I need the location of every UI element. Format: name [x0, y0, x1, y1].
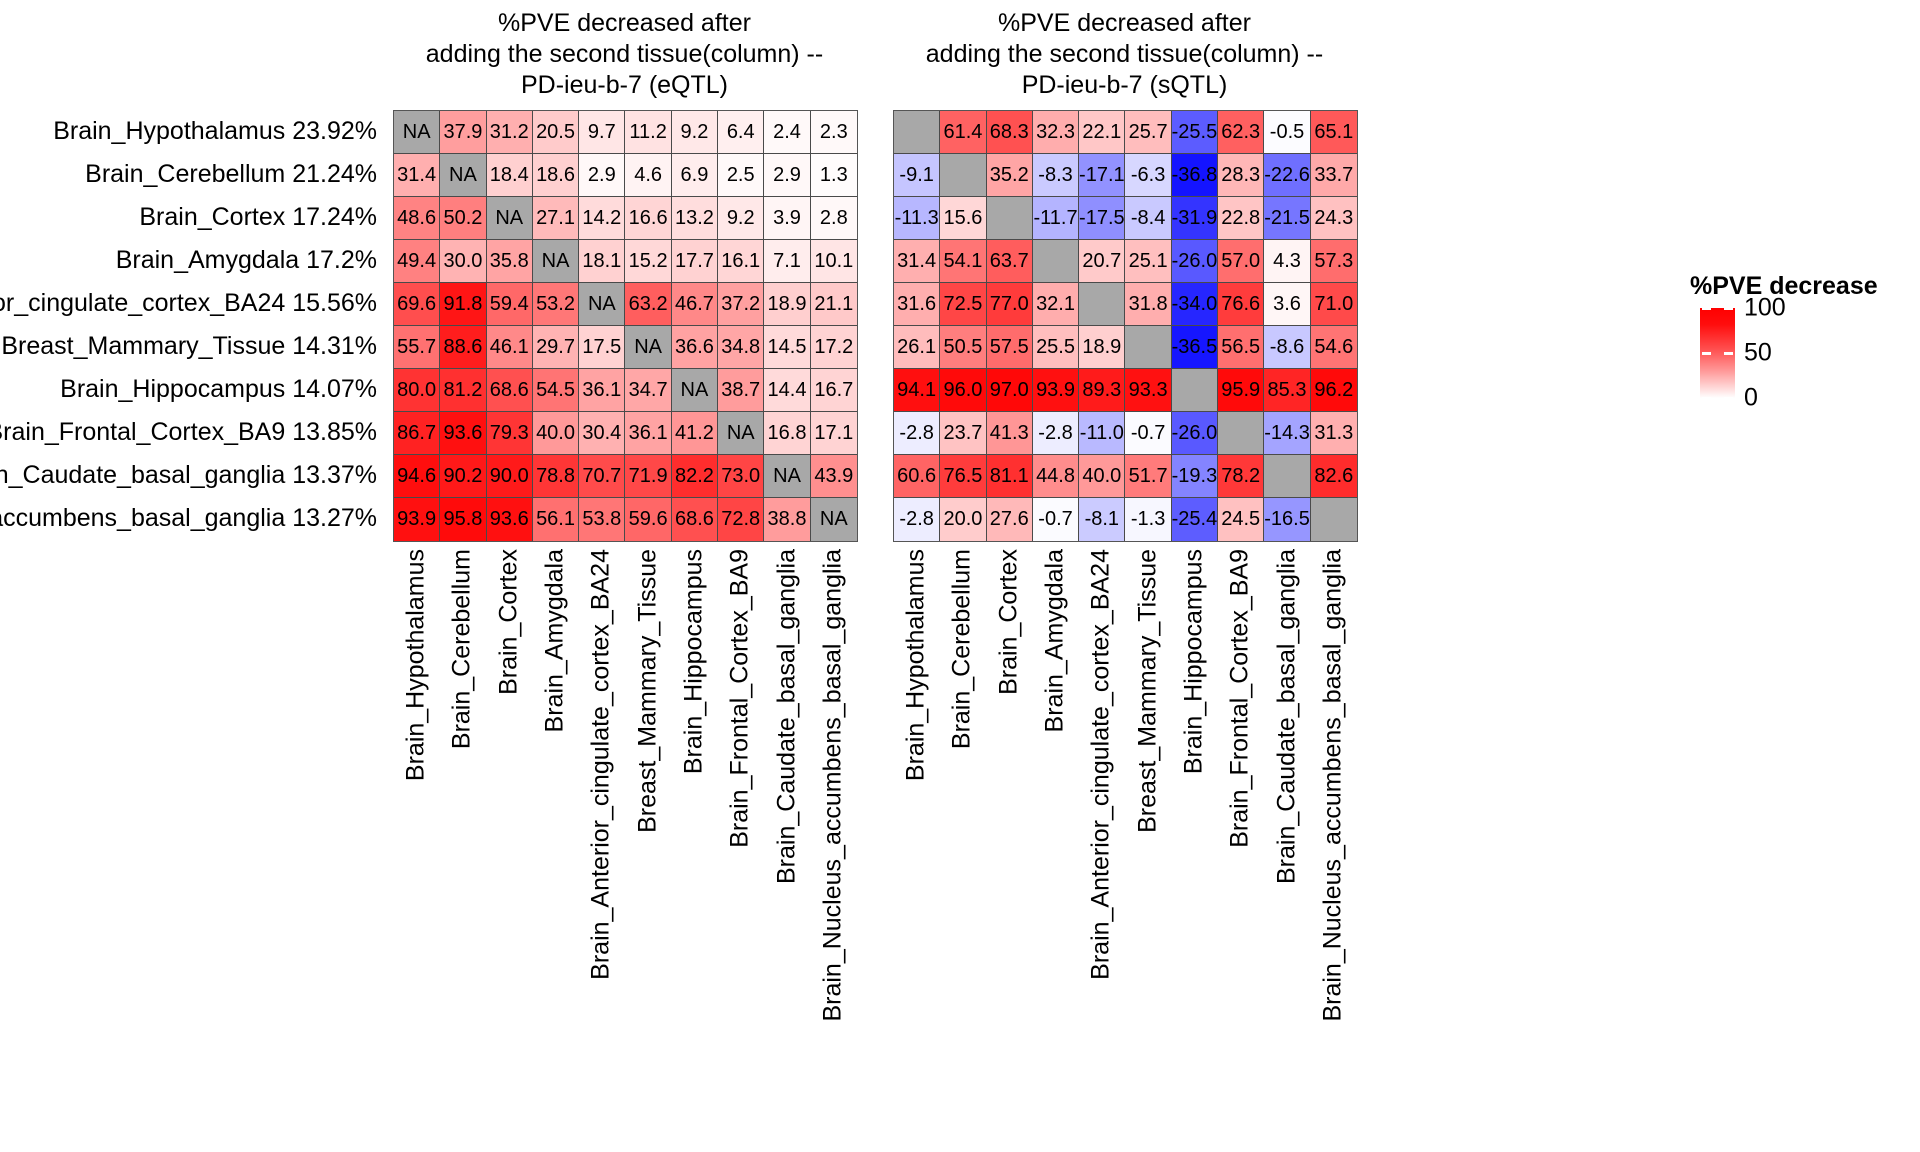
heatmap-cell: -25.5: [1172, 111, 1218, 154]
heatmap-cell: 60.6: [894, 455, 940, 498]
heatmap-cell: 51.7: [1125, 455, 1171, 498]
heatmap-cell: 4.6: [625, 154, 671, 197]
heatmap-cell: -36.5: [1172, 326, 1218, 369]
column-label: Brain_Caudate_basal_ganglia: [772, 549, 801, 884]
heatmap-cell: 57.5: [987, 326, 1033, 369]
heatmap-cell: [1172, 369, 1218, 412]
legend-tick-mark: [1700, 307, 1735, 310]
heatmap-cell: 68.6: [672, 498, 718, 541]
heatmap-cell: 97.0: [987, 369, 1033, 412]
heatmap-cell: -31.9: [1172, 197, 1218, 240]
column-label-slot: Brain_Caudate_basal_ganglia: [763, 545, 809, 945]
heatmap-cell: 82.6: [1311, 455, 1357, 498]
heatmap-cell: 48.6: [394, 197, 440, 240]
heatmap-cell: 18.6: [533, 154, 579, 197]
heatmap-cell: -16.5: [1264, 498, 1310, 541]
heatmap-cell: NA: [764, 455, 810, 498]
heatmap-cell: 93.9: [394, 498, 440, 541]
heatmap-cell: 40.0: [533, 412, 579, 455]
heatmap-cell: NA: [811, 498, 857, 541]
heatmap-cell: 50.5: [940, 326, 986, 369]
heatmap-cell: 71.9: [625, 455, 671, 498]
heatmap-cell: 72.8: [718, 498, 764, 541]
column-labels-sqtl: Brain_HypothalamusBrain_CerebellumBrain_…: [893, 545, 1356, 945]
heatmap-cell: 2.8: [811, 197, 857, 240]
heatmap-grid-sqtl: 61.468.332.322.125.7-25.562.3-0.565.1-9.…: [893, 110, 1358, 542]
heatmap-cell: 27.6: [987, 498, 1033, 541]
heatmap-cell: 41.2: [672, 412, 718, 455]
heatmap-cell: -11.3: [894, 197, 940, 240]
heatmap-cell: -2.8: [894, 412, 940, 455]
heatmap-cell: 2.9: [764, 154, 810, 197]
column-labels-eqtl: Brain_HypothalamusBrain_CerebellumBrain_…: [393, 545, 856, 945]
column-label-slot: Brain_Hippocampus: [1171, 545, 1217, 945]
heatmap-cell: 25.1: [1125, 240, 1171, 283]
heatmap-cell: 35.8: [487, 240, 533, 283]
heatmap-cell: NA: [625, 326, 671, 369]
heatmap-cell: 54.1: [940, 240, 986, 283]
heatmap-cell: 95.8: [440, 498, 486, 541]
heatmap-cell: 40.0: [1079, 455, 1125, 498]
heatmap-cell: 18.9: [764, 283, 810, 326]
column-label: Brain_Hippocampus: [1179, 549, 1208, 774]
heatmap-cell: 25.5: [1033, 326, 1079, 369]
heatmap-cell: 24.5: [1218, 498, 1264, 541]
heatmap-cell: 54.5: [533, 369, 579, 412]
row-label: Brain_Cortex 17.24%: [139, 196, 377, 239]
heatmap-cell: 7.1: [764, 240, 810, 283]
heatmap-cell: 90.0: [487, 455, 533, 498]
heatmap-cell: 4.3: [1264, 240, 1310, 283]
column-label: Brain_Caudate_basal_ganglia: [1272, 549, 1301, 884]
heatmap-cell: 80.0: [394, 369, 440, 412]
heatmap-cell: 55.7: [394, 326, 440, 369]
heatmap-cell: 22.1: [1079, 111, 1125, 154]
heatmap-cell: 17.5: [579, 326, 625, 369]
heatmap-cell: 69.6: [394, 283, 440, 326]
column-label-slot: Brain_Nucleus_accumbens_basal_ganglia: [1310, 545, 1356, 945]
row-label: Brain_Anterior_cingulate_cortex_BA24 15.…: [0, 282, 377, 325]
heatmap-cell: 6.4: [718, 111, 764, 154]
heatmap-cell: 90.2: [440, 455, 486, 498]
column-label: Brain_Frontal_Cortex_BA9: [726, 549, 755, 848]
heatmap-cell: -0.7: [1125, 412, 1171, 455]
heatmap-cell: 76.5: [940, 455, 986, 498]
heatmap-cell: 27.1: [533, 197, 579, 240]
heatmap-cell: 31.8: [1125, 283, 1171, 326]
heatmap-cell: 14.5: [764, 326, 810, 369]
heatmap-cell: 96.0: [940, 369, 986, 412]
heatmap-cell: 9.7: [579, 111, 625, 154]
heatmap-cell: 2.4: [764, 111, 810, 154]
row-labels: Brain_Hypothalamus 23.92%Brain_Cerebellu…: [0, 110, 385, 540]
heatmap-cell: NA: [533, 240, 579, 283]
column-label-slot: Breast_Mammary_Tissue: [1125, 545, 1171, 945]
heatmap-cell: 77.0: [987, 283, 1033, 326]
heatmap-cell: 70.7: [579, 455, 625, 498]
heatmap-cell: [1311, 498, 1357, 541]
column-label-slot: Brain_Cerebellum: [939, 545, 985, 945]
heatmap-cell: 31.3: [1311, 412, 1357, 455]
heatmap-cell: 2.9: [579, 154, 625, 197]
heatmap-cell: 82.2: [672, 455, 718, 498]
heatmap-cell: 34.8: [718, 326, 764, 369]
heatmap-cell: -8.4: [1125, 197, 1171, 240]
legend-tick-label: 0: [1744, 384, 1758, 413]
heatmap-cell: [1079, 283, 1125, 326]
heatmap-cell: 49.4: [394, 240, 440, 283]
column-label: Breast_Mammary_Tissue: [633, 549, 662, 833]
heatmap-cell: 30.4: [579, 412, 625, 455]
column-label: Breast_Mammary_Tissue: [1133, 549, 1162, 833]
heatmap-cell: 91.8: [440, 283, 486, 326]
row-label: Brain_Caudate_basal_ganglia 13.37%: [0, 454, 377, 497]
heatmap-cell: [1264, 455, 1310, 498]
heatmap-cell: -19.3: [1172, 455, 1218, 498]
heatmap-cell: 16.7: [811, 369, 857, 412]
heatmap-cell: 53.8: [579, 498, 625, 541]
heatmap-cell: 20.5: [533, 111, 579, 154]
heatmap-cell: 61.4: [940, 111, 986, 154]
heatmap-cell: -36.8: [1172, 154, 1218, 197]
column-label-slot: Brain_Caudate_basal_ganglia: [1263, 545, 1309, 945]
column-label: Brain_Hypothalamus: [402, 549, 431, 781]
heatmap-cell: 14.4: [764, 369, 810, 412]
heatmap-cell: 16.1: [718, 240, 764, 283]
heatmap-cell: 78.2: [1218, 455, 1264, 498]
heatmap-cell: -17.5: [1079, 197, 1125, 240]
heatmap-cell: 54.6: [1311, 326, 1357, 369]
heatmap-cell: 57.0: [1218, 240, 1264, 283]
heatmap-cell: -11.0: [1079, 412, 1125, 455]
legend-tick-label: 100: [1744, 294, 1786, 323]
heatmap-cell: 79.3: [487, 412, 533, 455]
column-label: Brain_Amygdala: [1041, 549, 1070, 732]
heatmap-cell: 30.0: [440, 240, 486, 283]
heatmap-cell: -25.4: [1172, 498, 1218, 541]
heatmap-cell: 18.9: [1079, 326, 1125, 369]
heatmap-cell: 31.4: [894, 240, 940, 283]
heatmap-cell: -1.3: [1125, 498, 1171, 541]
heatmap-cell: 59.6: [625, 498, 671, 541]
heatmap-cell: 57.3: [1311, 240, 1357, 283]
heatmap-cell: 33.7: [1311, 154, 1357, 197]
heatmap-cell: -21.5: [1264, 197, 1310, 240]
column-label-slot: Brain_Hypothalamus: [393, 545, 439, 945]
heatmap-cell: NA: [579, 283, 625, 326]
heatmap-cell: 16.6: [625, 197, 671, 240]
heatmap-cell: 3.6: [1264, 283, 1310, 326]
heatmap-cell: 53.2: [533, 283, 579, 326]
column-label: Brain_Nucleus_accumbens_basal_ganglia: [818, 549, 847, 1022]
heatmap-cell: 86.7: [394, 412, 440, 455]
heatmap-grid-eqtl: NA37.931.220.59.711.29.26.42.42.331.4NA1…: [393, 110, 858, 542]
heatmap-cell: 34.7: [625, 369, 671, 412]
legend-tick-mark: [1700, 397, 1735, 400]
heatmap-cell: 38.8: [764, 498, 810, 541]
heatmap-cell: 18.4: [487, 154, 533, 197]
heatmap-cell: 24.3: [1311, 197, 1357, 240]
heatmap-cell: 9.2: [718, 197, 764, 240]
heatmap-cell: 88.6: [440, 326, 486, 369]
heatmap-cell: -6.3: [1125, 154, 1171, 197]
column-label: Brain_Hypothalamus: [902, 549, 931, 781]
heatmap-cell: 37.9: [440, 111, 486, 154]
heatmap-cell: 15.2: [625, 240, 671, 283]
legend-tick-mark: [1700, 352, 1735, 355]
column-label-slot: Brain_Cortex: [486, 545, 532, 945]
heatmap-cell: 36.1: [579, 369, 625, 412]
heatmap-cell: 46.1: [487, 326, 533, 369]
column-label-slot: Brain_Cortex: [986, 545, 1032, 945]
heatmap-cell: -11.7: [1033, 197, 1079, 240]
heatmap-cell: 73.0: [718, 455, 764, 498]
heatmap-cell: NA: [718, 412, 764, 455]
heatmap-cell: 85.3: [1264, 369, 1310, 412]
heatmap-cell: 28.3: [1218, 154, 1264, 197]
heatmap-cell: 31.2: [487, 111, 533, 154]
heatmap-cell: 76.6: [1218, 283, 1264, 326]
heatmap-cell: 63.2: [625, 283, 671, 326]
heatmap-cell: 95.9: [1218, 369, 1264, 412]
column-label-slot: Brain_Anterior_cingulate_cortex_BA24: [578, 545, 624, 945]
row-label: Brain_Hypothalamus 23.92%: [53, 110, 377, 153]
heatmap-cell: 17.2: [811, 326, 857, 369]
heatmap-cell: 68.3: [987, 111, 1033, 154]
column-label: Brain_Hippocampus: [679, 549, 708, 774]
column-label-slot: Brain_Cerebellum: [439, 545, 485, 945]
heatmap-cell: 68.6: [487, 369, 533, 412]
heatmap-cell: 15.6: [940, 197, 986, 240]
heatmap-cell: 22.8: [1218, 197, 1264, 240]
heatmap-cell: -17.1: [1079, 154, 1125, 197]
row-label: Brain_Nucleus_accumbens_basal_ganglia 13…: [0, 497, 377, 540]
heatmap-cell: 43.9: [811, 455, 857, 498]
column-label: Brain_Anterior_cingulate_cortex_BA24: [587, 549, 616, 980]
row-label: Breast_Mammary_Tissue 14.31%: [1, 325, 377, 368]
heatmap-cell: 93.6: [440, 412, 486, 455]
heatmap-cell: 1.3: [811, 154, 857, 197]
heatmap-cell: 32.3: [1033, 111, 1079, 154]
heatmap-cell: -2.8: [894, 498, 940, 541]
heatmap-cell: NA: [487, 197, 533, 240]
legend-tick-label: 50: [1744, 339, 1772, 368]
heatmap-cell: 29.7: [533, 326, 579, 369]
heatmap-cell: 20.7: [1079, 240, 1125, 283]
heatmap-cell: 96.2: [1311, 369, 1357, 412]
figure-root: %PVE decreased after adding the second t…: [0, 0, 1920, 1152]
heatmap-cell: -9.1: [894, 154, 940, 197]
heatmap-cell: [1218, 412, 1264, 455]
column-label: Brain_Cerebellum: [448, 549, 477, 749]
heatmap-cell: 36.1: [625, 412, 671, 455]
heatmap-cell: -2.8: [1033, 412, 1079, 455]
column-label: Brain_Cortex: [994, 549, 1023, 695]
heatmap-cell: 41.3: [987, 412, 1033, 455]
heatmap-cell: 20.0: [940, 498, 986, 541]
heatmap-cell: 16.8: [764, 412, 810, 455]
heatmap-cell: 71.0: [1311, 283, 1357, 326]
heatmap-cell: 23.7: [940, 412, 986, 455]
heatmap-cell: 37.2: [718, 283, 764, 326]
heatmap-cell: 93.6: [487, 498, 533, 541]
column-label-slot: Brain_Frontal_Cortex_BA9: [1217, 545, 1263, 945]
heatmap-cell: 14.2: [579, 197, 625, 240]
row-label: Brain_Hippocampus 14.07%: [60, 368, 377, 411]
row-label: Brain_Frontal_Cortex_BA9 13.85%: [0, 411, 377, 454]
heatmap-cell: 11.2: [625, 111, 671, 154]
heatmap-cell: -26.0: [1172, 240, 1218, 283]
colorbar-legend: %PVE decrease 100500: [1700, 272, 1920, 452]
heatmap-cell: -14.3: [1264, 412, 1310, 455]
heatmap-cell: [1033, 240, 1079, 283]
heatmap-cell: 21.1: [811, 283, 857, 326]
heatmap-cell: [940, 154, 986, 197]
heatmap-cell: 63.7: [987, 240, 1033, 283]
heatmap-cell: -8.3: [1033, 154, 1079, 197]
heatmap-cell: 17.7: [672, 240, 718, 283]
heatmap-cell: 2.3: [811, 111, 857, 154]
heatmap-cell: 38.7: [718, 369, 764, 412]
heatmap-cell: 9.2: [672, 111, 718, 154]
heatmap-cell: 56.1: [533, 498, 579, 541]
column-label: Brain_Anterior_cingulate_cortex_BA24: [1087, 549, 1116, 980]
heatmap-cell: 72.5: [940, 283, 986, 326]
heatmap-cell: 13.2: [672, 197, 718, 240]
heatmap-cell: 3.9: [764, 197, 810, 240]
panel-title-eqtl: %PVE decreased after adding the second t…: [393, 8, 856, 101]
heatmap-cell: 17.1: [811, 412, 857, 455]
heatmap-cell: NA: [394, 111, 440, 154]
column-label-slot: Brain_Amygdala: [532, 545, 578, 945]
heatmap-cell: 6.9: [672, 154, 718, 197]
heatmap-cell: 50.2: [440, 197, 486, 240]
heatmap-cell: -8.6: [1264, 326, 1310, 369]
row-label: Brain_Amygdala 17.2%: [116, 239, 377, 282]
column-label-slot: Brain_Amygdala: [1032, 545, 1078, 945]
column-label-slot: Brain_Nucleus_accumbens_basal_ganglia: [810, 545, 856, 945]
heatmap-cell: 93.9: [1033, 369, 1079, 412]
heatmap-cell: -8.1: [1079, 498, 1125, 541]
heatmap-cell: -34.0: [1172, 283, 1218, 326]
heatmap-cell: [1125, 326, 1171, 369]
column-label: Brain_Amygdala: [541, 549, 570, 732]
heatmap-cell: 81.2: [440, 369, 486, 412]
heatmap-cell: 46.7: [672, 283, 718, 326]
column-label-slot: Brain_Hypothalamus: [893, 545, 939, 945]
heatmap-cell: 32.1: [1033, 283, 1079, 326]
heatmap-cell: 36.6: [672, 326, 718, 369]
column-label: Brain_Frontal_Cortex_BA9: [1226, 549, 1255, 848]
heatmap-cell: 89.3: [1079, 369, 1125, 412]
row-label: Brain_Cerebellum 21.24%: [85, 153, 377, 196]
column-label-slot: Brain_Hippocampus: [671, 545, 717, 945]
heatmap-cell: 65.1: [1311, 111, 1357, 154]
heatmap-cell: -26.0: [1172, 412, 1218, 455]
heatmap-cell: -0.7: [1033, 498, 1079, 541]
column-label: Brain_Nucleus_accumbens_basal_ganglia: [1318, 549, 1347, 1022]
heatmap-cell: [987, 197, 1033, 240]
heatmap-cell: 10.1: [811, 240, 857, 283]
heatmap-cell: 25.7: [1125, 111, 1171, 154]
heatmap-cell: -22.6: [1264, 154, 1310, 197]
heatmap-cell: 94.6: [394, 455, 440, 498]
heatmap-cell: 18.1: [579, 240, 625, 283]
heatmap-cell: 59.4: [487, 283, 533, 326]
column-label: Brain_Cerebellum: [948, 549, 977, 749]
heatmap-cell: 35.2: [987, 154, 1033, 197]
heatmap-cell: -0.5: [1264, 111, 1310, 154]
heatmap-cell: 31.6: [894, 283, 940, 326]
column-label: Brain_Cortex: [494, 549, 523, 695]
heatmap-cell: 31.4: [394, 154, 440, 197]
heatmap-cell: NA: [440, 154, 486, 197]
heatmap-cell: 26.1: [894, 326, 940, 369]
heatmap-cell: 2.5: [718, 154, 764, 197]
column-label-slot: Brain_Frontal_Cortex_BA9: [717, 545, 763, 945]
panel-title-sqtl: %PVE decreased after adding the second t…: [893, 8, 1356, 101]
heatmap-cell: [894, 111, 940, 154]
heatmap-cell: 78.8: [533, 455, 579, 498]
column-label-slot: Breast_Mammary_Tissue: [625, 545, 671, 945]
heatmap-cell: 81.1: [987, 455, 1033, 498]
heatmap-cell: 44.8: [1033, 455, 1079, 498]
heatmap-cell: 94.1: [894, 369, 940, 412]
heatmap-cell: 93.3: [1125, 369, 1171, 412]
heatmap-cell: 62.3: [1218, 111, 1264, 154]
heatmap-cell: 56.5: [1218, 326, 1264, 369]
column-label-slot: Brain_Anterior_cingulate_cortex_BA24: [1078, 545, 1124, 945]
heatmap-cell: NA: [672, 369, 718, 412]
